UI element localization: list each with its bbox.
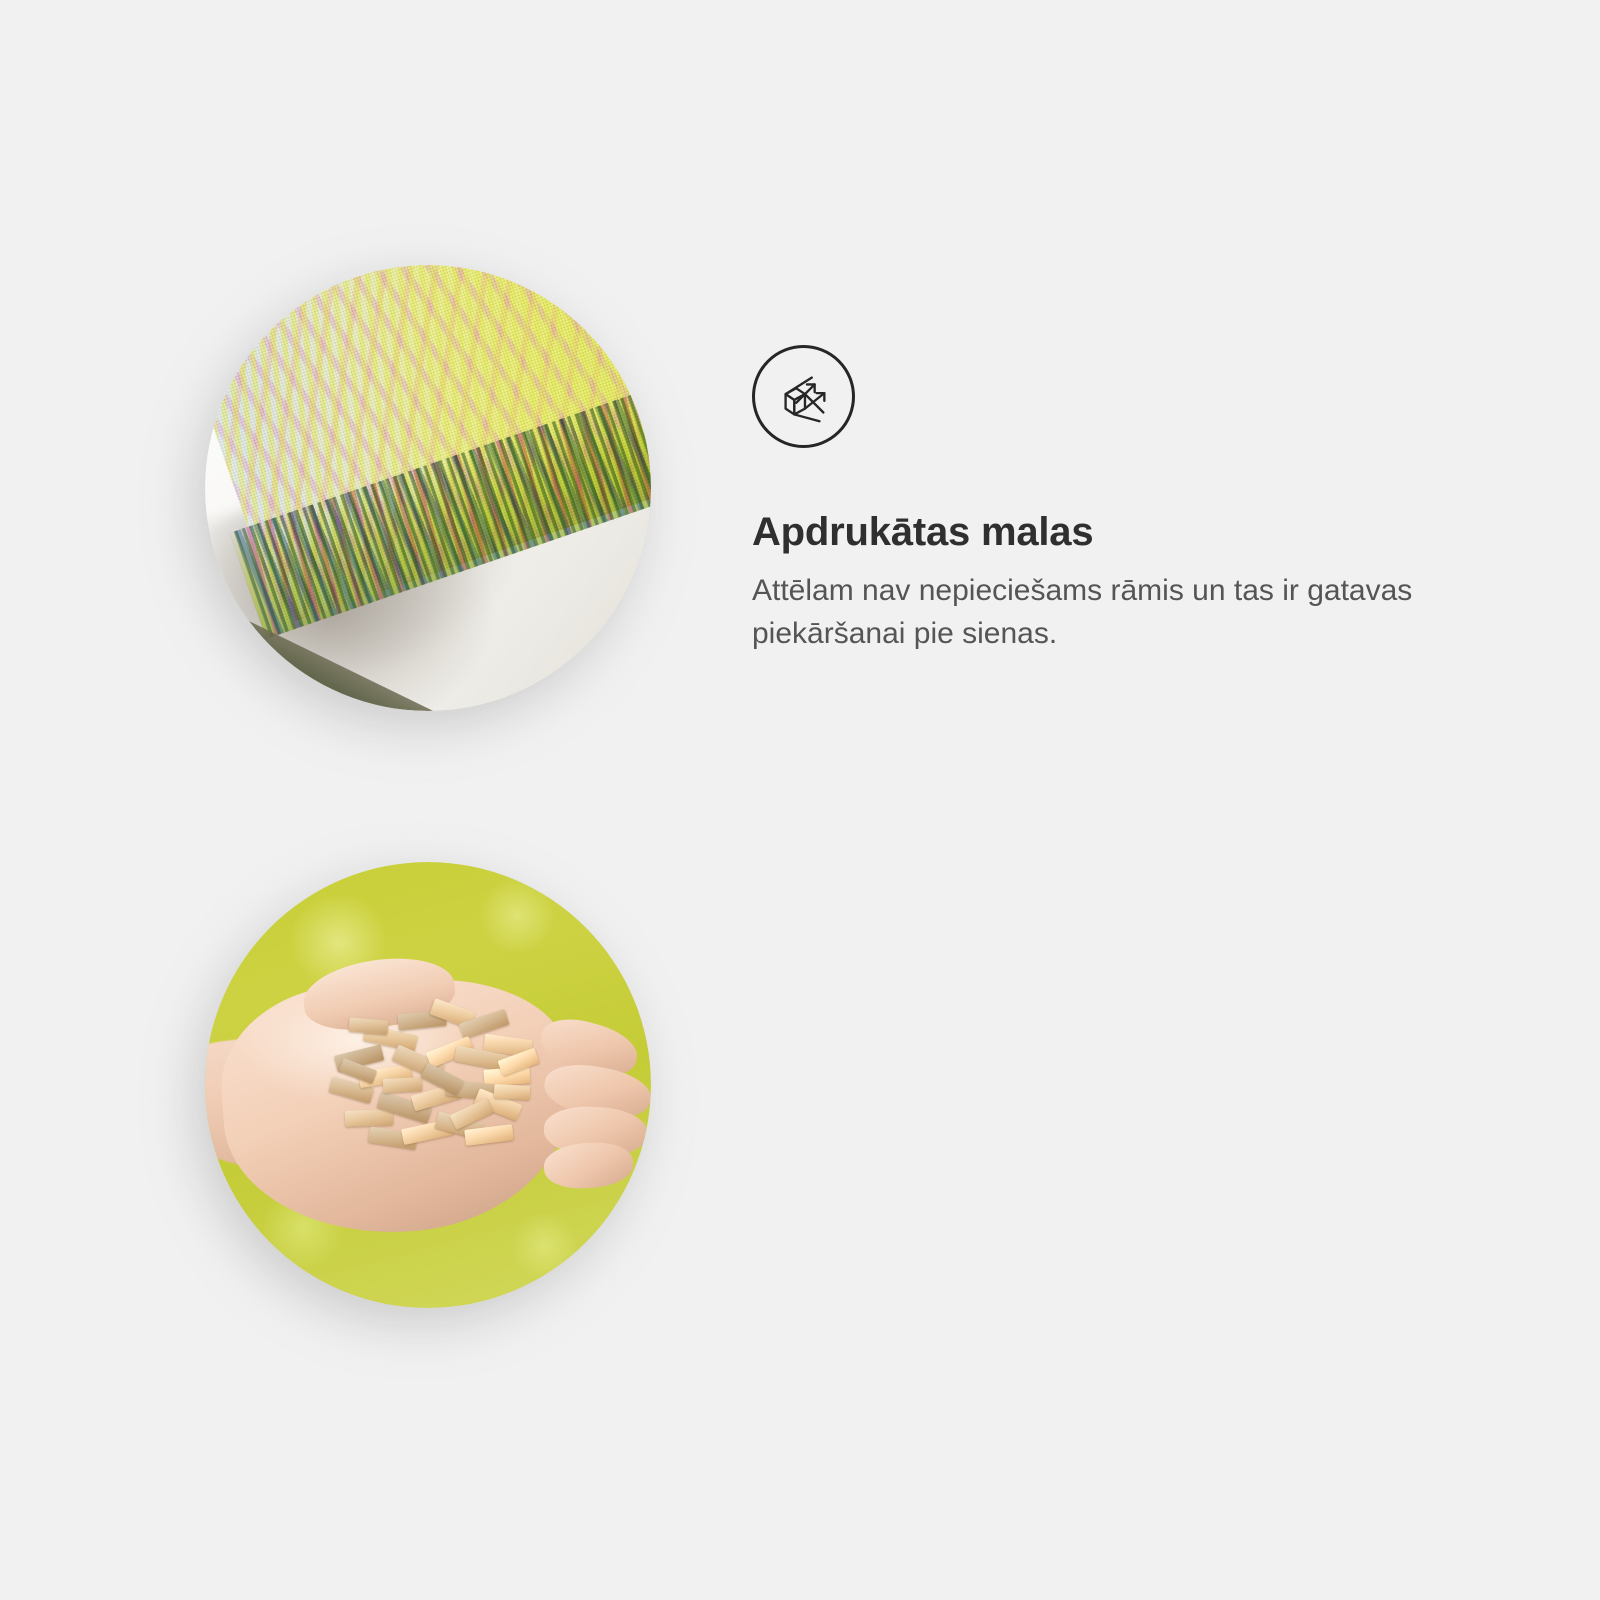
canvas-wrap-arrows-icon — [752, 345, 855, 448]
printed-edges-text-column: Apdrukātas malas Attēlam nav nepieciešam… — [752, 345, 1474, 655]
hand-wood-chips-photo — [205, 862, 651, 1308]
feature-eco-product: EKO produkts Mūsu ražošanas procesā tiek… — [0, 800, 1600, 1600]
wood-chip — [383, 1077, 422, 1093]
feature-printed-edges: Apdrukātas malas Attēlam nav nepieciešam… — [0, 0, 1600, 800]
wood-chip — [349, 1018, 389, 1035]
wood-chip-pile — [325, 991, 566, 1165]
feature-description: Attēlam nav nepieciešams rāmis un tas ir… — [752, 570, 1474, 655]
wood-chip — [344, 1109, 393, 1126]
feature-list-page: Apdrukātas malas Attēlam nav nepieciešam… — [0, 0, 1600, 1600]
wood-chip — [494, 1084, 531, 1100]
canvas-corner-photo — [205, 265, 651, 711]
feature-title: Apdrukātas malas — [752, 510, 1474, 554]
